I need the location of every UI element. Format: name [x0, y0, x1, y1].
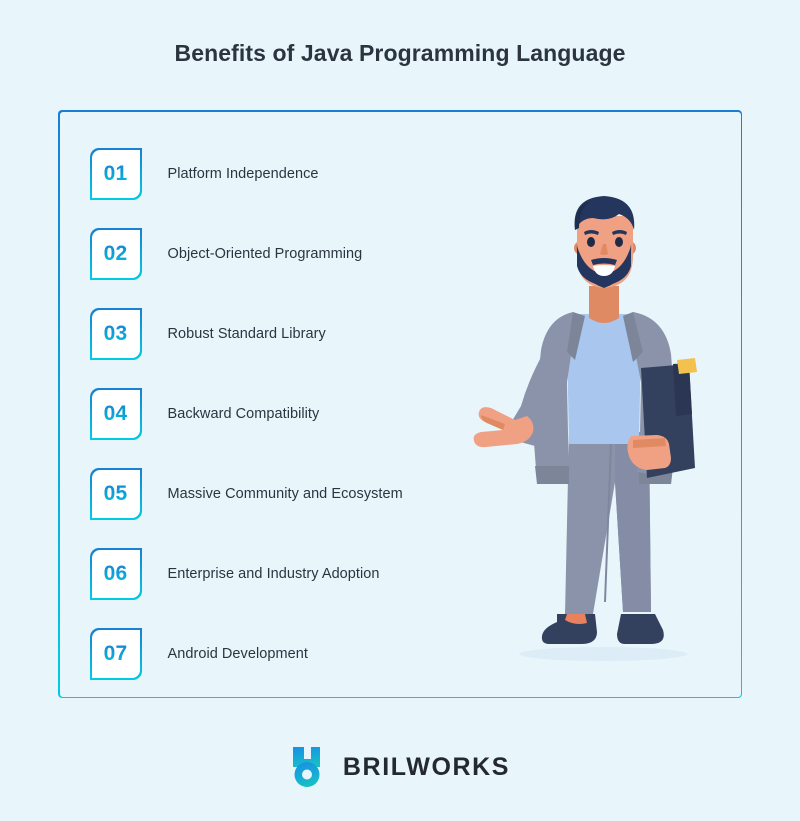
neck	[589, 286, 619, 323]
number-badge: 07	[90, 628, 142, 680]
list-item: 03 Robust Standard Library	[90, 294, 510, 374]
number-badge: 04	[90, 388, 142, 440]
badge-number: 01	[104, 162, 128, 186]
page-title: Benefits of Java Programming Language	[0, 40, 800, 67]
clipboard-clip-accent	[677, 358, 697, 374]
number-badge: 05	[90, 468, 142, 520]
list-item: 07 Android Development	[90, 614, 510, 694]
left-eye	[587, 237, 595, 247]
list-item: 01 Platform Independence	[90, 134, 510, 214]
benefit-label: Robust Standard Library	[168, 326, 326, 342]
list-item: 02 Object-Oriented Programming	[90, 214, 510, 294]
list-item: 06 Enterprise and Industry Adoption	[90, 534, 510, 614]
benefit-label: Massive Community and Ecosystem	[168, 486, 403, 502]
benefits-list: 01 Platform Independence 02 Object-Orien…	[90, 134, 510, 694]
logo-ring	[294, 762, 319, 787]
number-badge: 02	[90, 228, 142, 280]
benefit-label: Enterprise and Industry Adoption	[168, 566, 380, 582]
blazer-hem-left	[535, 466, 569, 484]
badge-number: 04	[104, 402, 128, 426]
benefit-label: Platform Independence	[168, 166, 319, 182]
badge-number: 06	[104, 562, 128, 586]
right-shoe	[617, 614, 664, 644]
benefits-card: 01 Platform Independence 02 Object-Orien…	[58, 110, 742, 698]
badge-number: 02	[104, 242, 128, 266]
badge-number: 07	[104, 642, 128, 666]
brand-wordmark: BRILWORKS	[343, 753, 510, 782]
list-item: 05 Massive Community and Ecosystem	[90, 454, 510, 534]
benefits-card-inner: 01 Platform Independence 02 Object-Orien…	[60, 112, 741, 697]
list-item: 04 Backward Compatibility	[90, 374, 510, 454]
ground-shadow	[519, 647, 687, 661]
right-eye	[615, 237, 623, 247]
number-badge: 01	[90, 148, 142, 200]
number-badge: 06	[90, 548, 142, 600]
benefit-label: Object-Oriented Programming	[168, 246, 363, 262]
badge-number: 03	[104, 322, 128, 346]
benefit-label: Android Development	[168, 646, 308, 662]
benefit-label: Backward Compatibility	[168, 406, 320, 422]
presenter-illustration	[473, 182, 733, 672]
badge-number: 05	[104, 482, 128, 506]
footer-logo: BRILWORKS	[0, 745, 800, 789]
number-badge: 03	[90, 308, 142, 360]
brilworks-logo-icon	[290, 745, 330, 789]
